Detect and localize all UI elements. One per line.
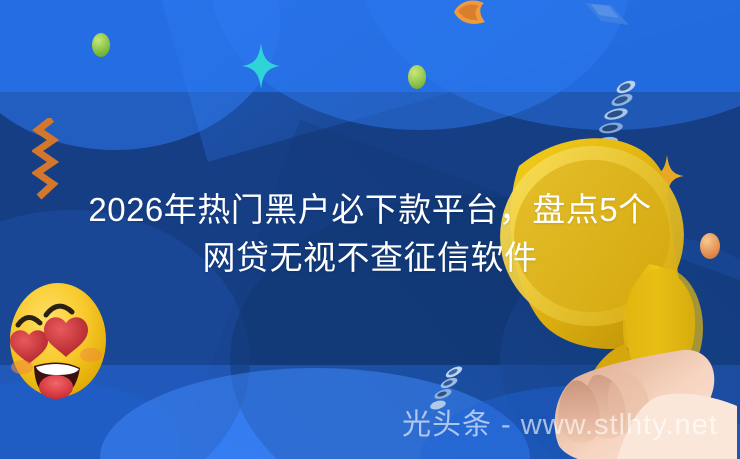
page-title-line-2: 网贷无视不查征信软件 bbox=[22, 234, 718, 282]
emoji-smiling-face-with-hearts bbox=[6, 277, 110, 402]
page-title-line-1: 2026年热门黑户必下款平台，盘点5个 bbox=[22, 186, 718, 234]
site-watermark: 光头条 - www.stlhty.net bbox=[402, 408, 718, 442]
article-cover-banner: 2026年热门黑户必下款平台，盘点5个 网贷无视不查征信软件 光头条 - www… bbox=[0, 0, 740, 459]
page-title: 2026年热门黑户必下款平台，盘点5个 网贷无视不查征信软件 bbox=[0, 186, 740, 282]
